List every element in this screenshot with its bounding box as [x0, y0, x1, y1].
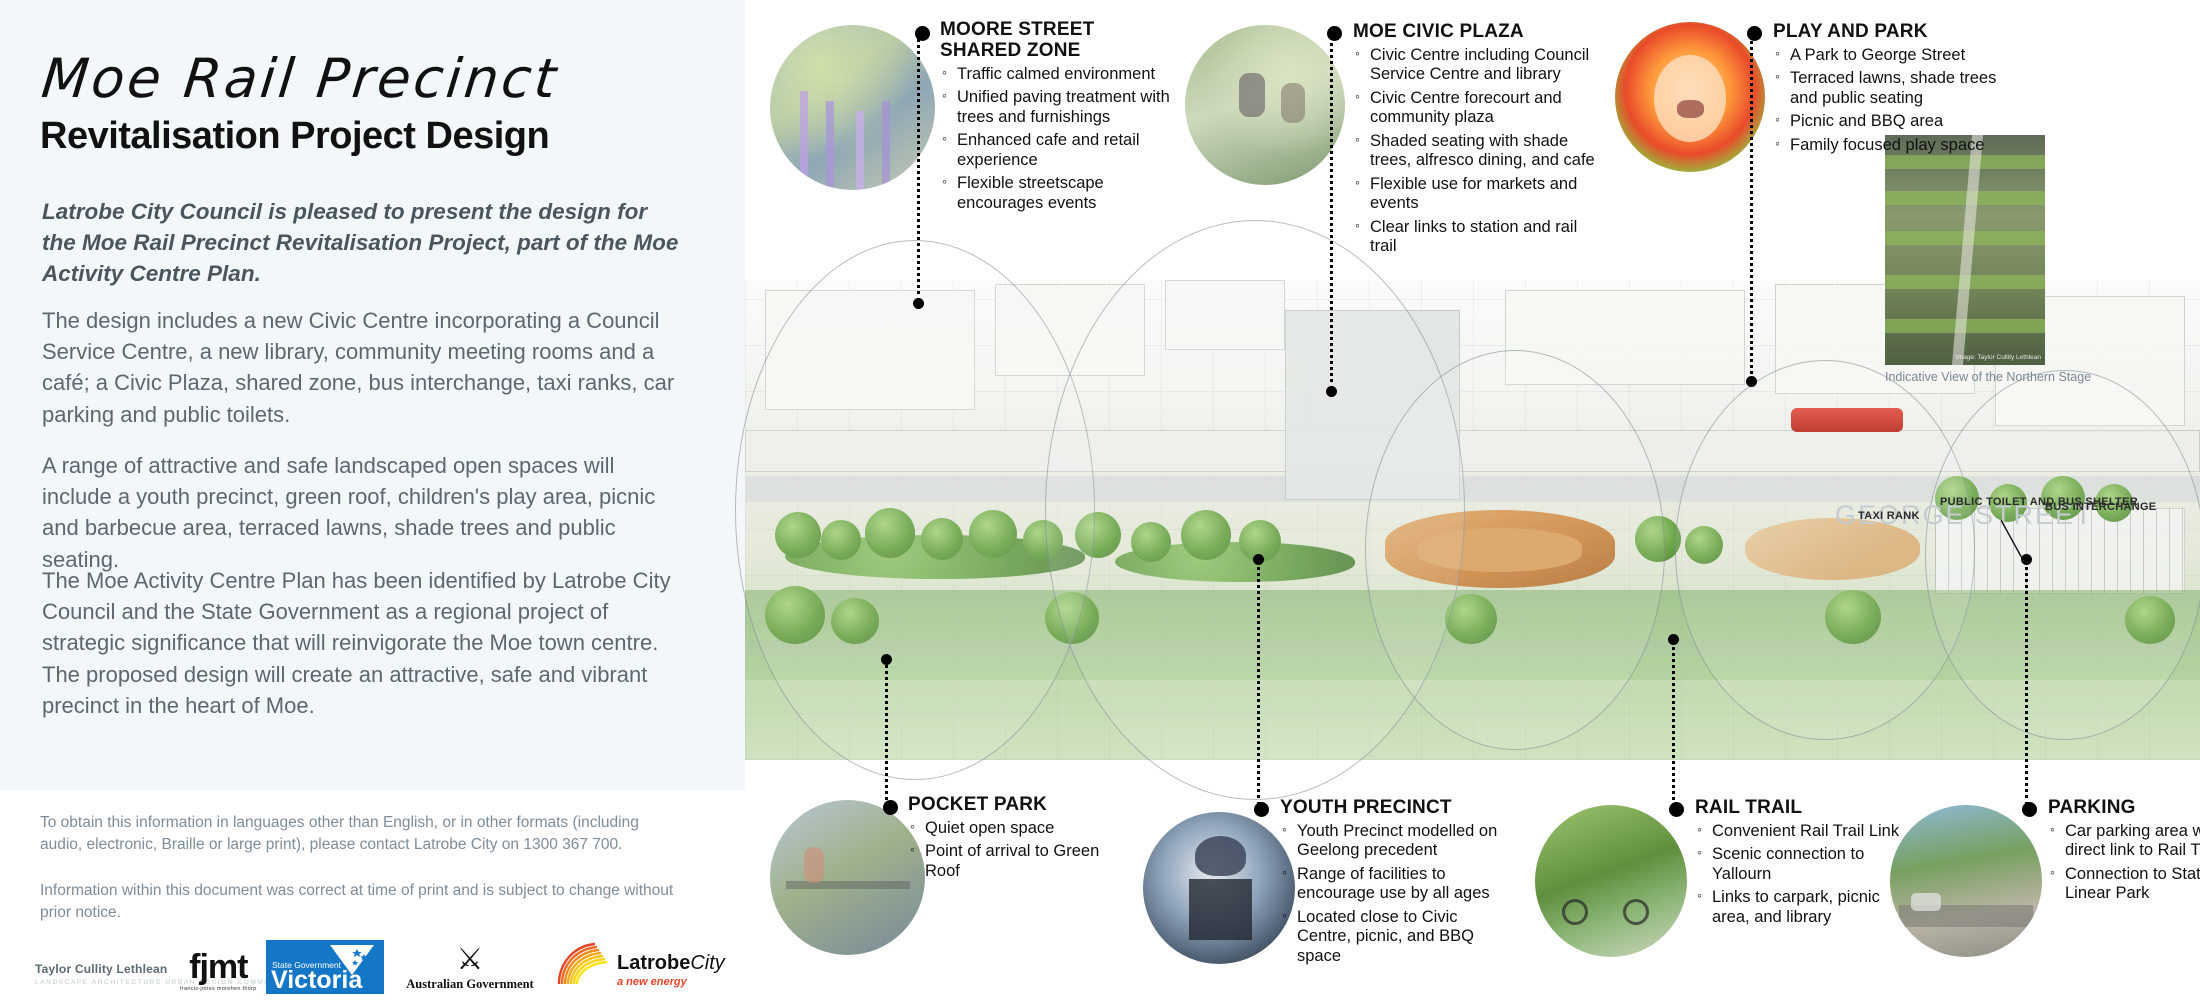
- callout-title-parking: PARKING: [2048, 798, 2200, 819]
- logo-latrobe-city: LatrobeCity a new energy: [555, 940, 735, 994]
- leader-anchor-civic-plaza: [1326, 386, 1337, 397]
- callout-play-and-park: PLAY AND PARK A Park to George Street Te…: [1773, 22, 2028, 159]
- list-item: Range of facilities to encourage use by …: [1280, 865, 1515, 904]
- callout-items-parking: Car parking area with direct link to Rai…: [2048, 822, 2200, 904]
- list-item: Enhanced cafe and retail experience: [940, 131, 1175, 170]
- list-item: A Park to George Street: [1773, 46, 2028, 65]
- list-item: Connection to Station and Linear Park: [2048, 865, 2200, 904]
- list-item: Picnic and BBQ area: [1773, 112, 2028, 131]
- list-item: Quiet open space: [908, 819, 1123, 838]
- list-item: Traffic calmed environment: [940, 65, 1175, 84]
- callout-items-pocket-park: Quiet open space Point of arrival to Gre…: [908, 819, 1123, 881]
- logo-state-government-victoria: State Government Victoria: [266, 940, 384, 994]
- northern-stage-caption: Indicative View of the Northern Stage: [1885, 370, 2185, 384]
- leader-anchor-play-and-park: [1746, 376, 1757, 387]
- commonwealth-crest-icon: ⚔: [400, 945, 540, 975]
- page-subtitle: Revitalisation Project Design: [40, 115, 549, 158]
- logo-vic-victoria: Victoria: [271, 968, 362, 993]
- list-item: Civic Centre including Council Service C…: [1353, 46, 1603, 85]
- map-label-bus-interchange: BUS INTERCHANGE: [2045, 501, 2156, 514]
- callout-items-play-and-park: A Park to George Street Terraced lawns, …: [1773, 46, 2028, 155]
- photo-cafe: [1185, 25, 1345, 185]
- callout-dot-pocket-park: [883, 800, 898, 815]
- leader-line-civic-plaza: [1330, 30, 1333, 390]
- list-item: Convenient Rail Trail Link: [1695, 822, 1920, 841]
- plan-and-callouts-area: GEORGE STREET TAXI RANK PUBLIC TOILET AN…: [745, 0, 2200, 1005]
- callout-dot-rail-trail: [1669, 802, 1684, 817]
- list-item: Flexible use for markets and events: [1353, 175, 1603, 214]
- callout-moe-civic-plaza: MOE CIVIC PLAZA Civic Centre including C…: [1353, 22, 1603, 261]
- callout-items-rail-trail: Convenient Rail Trail Link Scenic connec…: [1695, 822, 1920, 927]
- leader-line-pocket-park: [885, 660, 888, 800]
- northern-stage-render-photo: Image: Taylor Cullity Lethlean: [1885, 135, 2045, 365]
- list-item: Family focused play space: [1773, 136, 2028, 155]
- callout-title-civic-plaza: MOE CIVIC PLAZA: [1353, 22, 1603, 43]
- logo-fjmt: fjmt francis-jones morehen thorp: [180, 951, 257, 992]
- photo-cyclists: [1535, 805, 1687, 957]
- list-item: Links to carpark, picnic area, and libra…: [1695, 888, 1920, 927]
- leader-anchor-pocket-park: [881, 654, 892, 665]
- callout-youth-precinct: YOUTH PRECINCT Youth Precinct modelled o…: [1280, 798, 1515, 970]
- map-label-taxi-rank: TAXI RANK: [1858, 510, 1920, 523]
- logo-fjmt-tagline: francis-jones morehen thorp: [180, 986, 257, 992]
- logo-australian-government: ⚔ Australian Government: [400, 945, 540, 992]
- callout-title-rail-trail: RAIL TRAIL: [1695, 798, 1920, 819]
- callout-rail-trail: RAIL TRAIL Convenient Rail Trail Link Sc…: [1695, 798, 1920, 931]
- list-item: Flexible streetscape encourages events: [940, 174, 1175, 213]
- partner-logo-strip: Taylor Cullity Lethlean LANDSCAPE ARCHIT…: [30, 938, 730, 1000]
- logo-fjmt-name: fjmt: [180, 951, 257, 983]
- callout-items-moore-street: Traffic calmed environment Unified pavin…: [940, 65, 1175, 213]
- photo-credit: Image: Taylor Cullity Lethlean: [1956, 354, 2041, 361]
- callout-title-youth-precinct: YOUTH PRECINCT: [1280, 798, 1515, 819]
- focus-circle-parking: [1925, 370, 2200, 740]
- photo-streetscape: [770, 25, 935, 190]
- leader-line-play-and-park: [1750, 30, 1753, 380]
- leader-line-youth-precinct: [1257, 560, 1260, 805]
- body-paragraph-2: A range of attractive and safe landscape…: [42, 450, 687, 575]
- callout-title-pocket-park: POCKET PARK: [908, 795, 1123, 816]
- leader-anchor-parking: [2021, 554, 2032, 565]
- leader-line-moore-street: [917, 32, 920, 302]
- list-item: Unified paving treatment with trees and …: [940, 88, 1175, 127]
- page-title-script: Moe Rail Precinct: [39, 52, 561, 106]
- list-item: Terraced lawns, shade trees and public s…: [1773, 69, 2028, 108]
- leader-anchor-youth-precinct: [1253, 554, 1264, 565]
- focus-circle-youth: [1365, 350, 1665, 750]
- callout-pocket-park: POCKET PARK Quiet open space Point of ar…: [908, 795, 1123, 885]
- disclaimer-notice: Information within this document was cor…: [40, 880, 680, 925]
- list-item: Point of arrival to Green Roof: [908, 842, 1123, 881]
- callout-parking: PARKING Car parking area with direct lin…: [2048, 798, 2200, 908]
- list-item: Shaded seating with shade trees, alfresc…: [1353, 132, 1603, 171]
- list-item: Located close to Civic Centre, picnic, a…: [1280, 908, 1515, 966]
- callout-moore-street-shared-zone: MOORE STREET SHARED ZONE Traffic calmed …: [940, 20, 1175, 217]
- callout-title-play-and-park: PLAY AND PARK: [1773, 22, 2028, 43]
- body-paragraph-3: The Moe Activity Centre Plan has been id…: [42, 565, 687, 721]
- list-item: Scenic connection to Yallourn: [1695, 845, 1920, 884]
- photo-pocket-park: [770, 800, 925, 955]
- latrobe-fan-icon: [555, 942, 613, 986]
- accessibility-notice: To obtain this information in languages …: [40, 812, 680, 857]
- photo-carpark: [1890, 805, 2042, 957]
- leader-line-parking: [2025, 560, 2028, 805]
- list-item: Car parking area with direct link to Rai…: [2048, 822, 2200, 861]
- lead-paragraph: Latrobe City Council is pleased to prese…: [42, 196, 682, 289]
- body-paragraph-1: The design includes a new Civic Centre i…: [42, 305, 687, 430]
- callout-title-moore-street: MOORE STREET SHARED ZONE: [940, 20, 1175, 62]
- callout-items-civic-plaza: Civic Centre including Council Service C…: [1353, 46, 1603, 257]
- logo-latrobe-name: LatrobeCity: [617, 952, 725, 975]
- leader-line-rail-trail: [1672, 640, 1675, 800]
- focus-circle-moore-street: [735, 240, 1095, 780]
- photo-child: [1615, 22, 1765, 172]
- leader-anchor-moore-street: [913, 298, 924, 309]
- left-info-panel: Moe Rail Precinct Revitalisation Project…: [0, 0, 745, 1005]
- logo-aus-name: Australian Government: [400, 977, 540, 992]
- photo-skater: [1143, 812, 1295, 964]
- logo-latrobe-tagline: a new energy: [617, 976, 687, 988]
- list-item: Civic Centre forecourt and community pla…: [1353, 89, 1603, 128]
- leader-anchor-rail-trail: [1668, 634, 1679, 645]
- list-item: Youth Precinct modelled on Geelong prece…: [1280, 822, 1515, 861]
- callout-items-youth-precinct: Youth Precinct modelled on Geelong prece…: [1280, 822, 1515, 966]
- list-item: Clear links to station and rail trail: [1353, 218, 1603, 257]
